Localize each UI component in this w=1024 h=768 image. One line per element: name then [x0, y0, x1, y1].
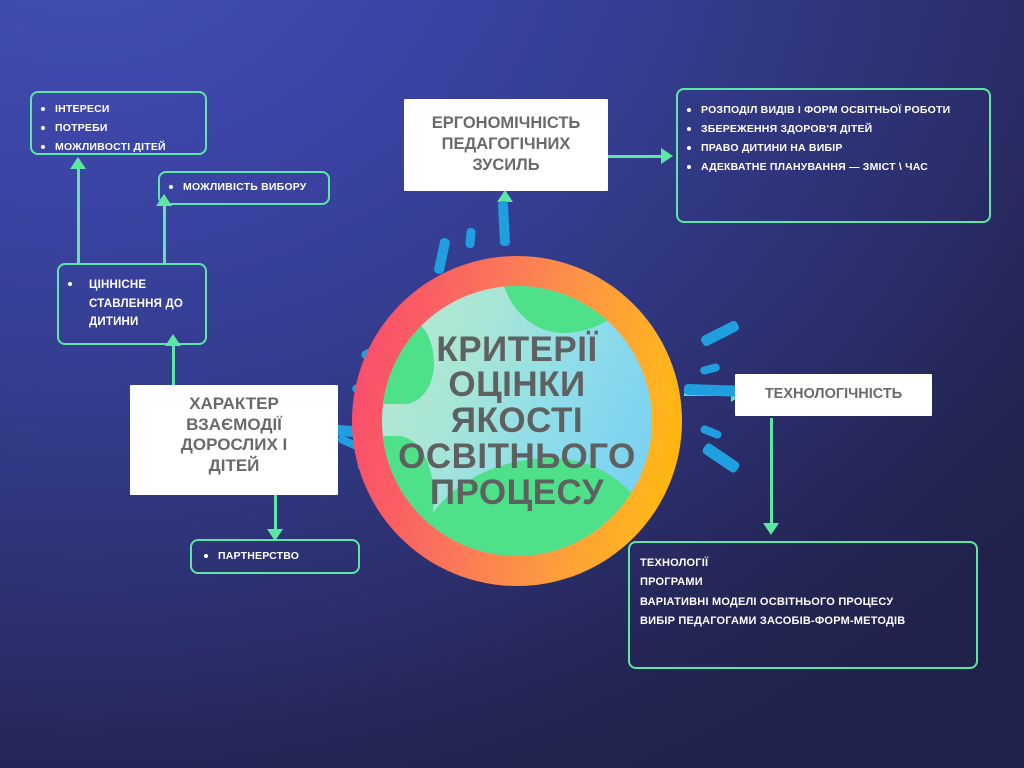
- connector-technology-to-detail: [770, 418, 773, 525]
- diagram-slide: КРИТЕРІЇ ОЦІНКИ ЯКОСТІ ОСВІТНЬОГО ПРОЦЕС…: [0, 0, 1024, 768]
- node-partnership[interactable]: ПАРТНЕРСТВО: [190, 539, 360, 574]
- partnership-list: ПАРТНЕРСТВО: [201, 549, 350, 564]
- connector-value-to-interests: [77, 168, 80, 263]
- list-item: АДЕКВАТНЕ ПЛАНУВАННЯ — ЗМІСТ \ ЧАС: [684, 160, 977, 176]
- central-hub: КРИТЕРІЇ ОЦІНКИ ЯКОСТІ ОСВІТНЬОГО ПРОЦЕС…: [352, 256, 682, 586]
- list-item: ВИБІР ПЕДАГОГАМИ ЗАСОБІВ-ФОРМ-МЕТОДІВ: [640, 613, 966, 630]
- node-technology-detail[interactable]: ТЕХНОЛОГІЇ ПРОГРАМИ ВАРІАТИВНІ МОДЕЛІ ОС…: [628, 541, 978, 669]
- node-ergonomics-detail[interactable]: РОЗПОДІЛ ВИДІВ І ФОРМ ОСВІТНЬОЇ РОБОТИ З…: [676, 88, 991, 223]
- list-item: ПРАВО ДИТИНИ НА ВИБІР: [684, 141, 977, 157]
- sparkle-icon: [699, 363, 720, 376]
- value-attitude-list: ЦІННІСНЕ СТАВЛЕННЯ ДО ДИТИНИ: [65, 276, 197, 332]
- list-item: ІНТЕРЕСИ: [38, 102, 197, 118]
- list-item: МОЖЛИВІСТЬ ВИБОРУ: [166, 180, 320, 195]
- list-item: РОЗПОДІЛ ВИДІВ І ФОРМ ОСВІТНЬОЇ РОБОТИ: [684, 103, 977, 119]
- list-item: ЦІННІСНЕ СТАВЛЕННЯ ДО ДИТИНИ: [65, 276, 197, 332]
- node-choice[interactable]: МОЖЛИВІСТЬ ВИБОРУ: [158, 171, 330, 205]
- arrowhead-ergonomics-to-detail: [661, 148, 673, 164]
- arrowhead-technology-to-detail: [763, 523, 779, 535]
- node-technology-label: ТЕХНОЛОГІЧНІСТЬ: [735, 386, 932, 403]
- list-item: МОЖЛИВОСТІ ДІТЕЙ: [38, 140, 197, 156]
- list-item: ПОТРЕБИ: [38, 121, 197, 137]
- interests-list: ІНТЕРЕСИ ПОТРЕБИ МОЖЛИВОСТІ ДІТЕЙ: [38, 102, 197, 156]
- list-item: ПРОГРАМИ: [640, 574, 966, 591]
- node-value-attitude[interactable]: ЦІННІСНЕ СТАВЛЕННЯ ДО ДИТИНИ: [57, 263, 207, 345]
- node-ergonomics-label: ЕРГОНОМІЧНІСТЬ ПЕДАГОГІЧНИХ ЗУСИЛЬ: [404, 113, 608, 175]
- connector-ergonomics-to-detail: [607, 155, 669, 158]
- sparkle-icon: [700, 320, 741, 348]
- node-interaction-label: ХАРАКТЕР ВЗАЄМОДІЇ ДОРОСЛИХ І ДІТЕЙ: [130, 394, 338, 477]
- list-item: ВАРІАТИВНІ МОДЕЛІ ОСВІТНЬОГО ПРОЦЕСУ: [640, 594, 966, 611]
- choice-list: МОЖЛИВІСТЬ ВИБОРУ: [166, 180, 320, 195]
- list-item: ПАРТНЕРСТВО: [201, 549, 350, 564]
- list-item: ЗБЕРЕЖЕННЯ ЗДОРОВ'Я ДІТЕЙ: [684, 122, 977, 138]
- ergonomics-detail-list: РОЗПОДІЛ ВИДІВ І ФОРМ ОСВІТНЬОЇ РОБОТИ З…: [684, 103, 977, 176]
- sparkle-icon: [699, 424, 722, 440]
- arrowhead-value-to-interests: [70, 157, 86, 169]
- list-item: ТЕХНОЛОГІЇ: [640, 555, 966, 572]
- connector-interaction-to-partnership: [274, 495, 277, 531]
- connector-interaction-to-value: [172, 345, 175, 387]
- technology-detail-list: ТЕХНОЛОГІЇ ПРОГРАМИ ВАРІАТИВНІ МОДЕЛІ ОС…: [640, 555, 966, 631]
- sparkle-icon: [498, 201, 510, 246]
- hub-title: КРИТЕРІЇ ОЦІНКИ ЯКОСТІ ОСВІТНЬОГО ПРОЦЕС…: [352, 256, 682, 586]
- sparkle-icon: [465, 228, 476, 249]
- connector-value-to-choice: [163, 205, 166, 263]
- sparkle-icon: [701, 442, 741, 474]
- node-interests[interactable]: ІНТЕРЕСИ ПОТРЕБИ МОЖЛИВОСТІ ДІТЕЙ: [30, 91, 207, 155]
